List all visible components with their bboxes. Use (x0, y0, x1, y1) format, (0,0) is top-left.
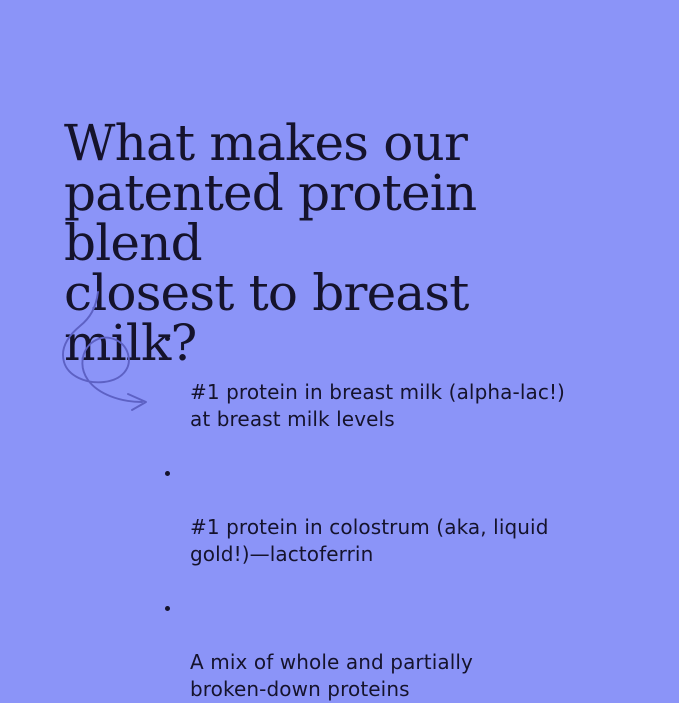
list-item-label: A mix of whole and partially broken-down… (190, 650, 473, 701)
bullet-dot-icon (165, 471, 170, 476)
list-item-label: #1 protein in breast milk (alpha-lac!) a… (190, 380, 565, 431)
list-item-label: #1 protein in colostrum (aka, liquid gol… (190, 515, 549, 566)
promo-slide: What makes our patented protein blend cl… (0, 0, 679, 679)
bullet-dot-icon (165, 336, 170, 341)
bullet-dot-icon (165, 606, 170, 611)
list-item: A mix of whole and partially broken-down… (160, 595, 580, 703)
list-item: #1 protein in colostrum (aka, liquid gol… (160, 460, 580, 568)
list-item: #1 protein in breast milk (alpha-lac!) a… (160, 325, 580, 433)
benefit-list: #1 protein in breast milk (alpha-lac!) a… (160, 325, 580, 703)
